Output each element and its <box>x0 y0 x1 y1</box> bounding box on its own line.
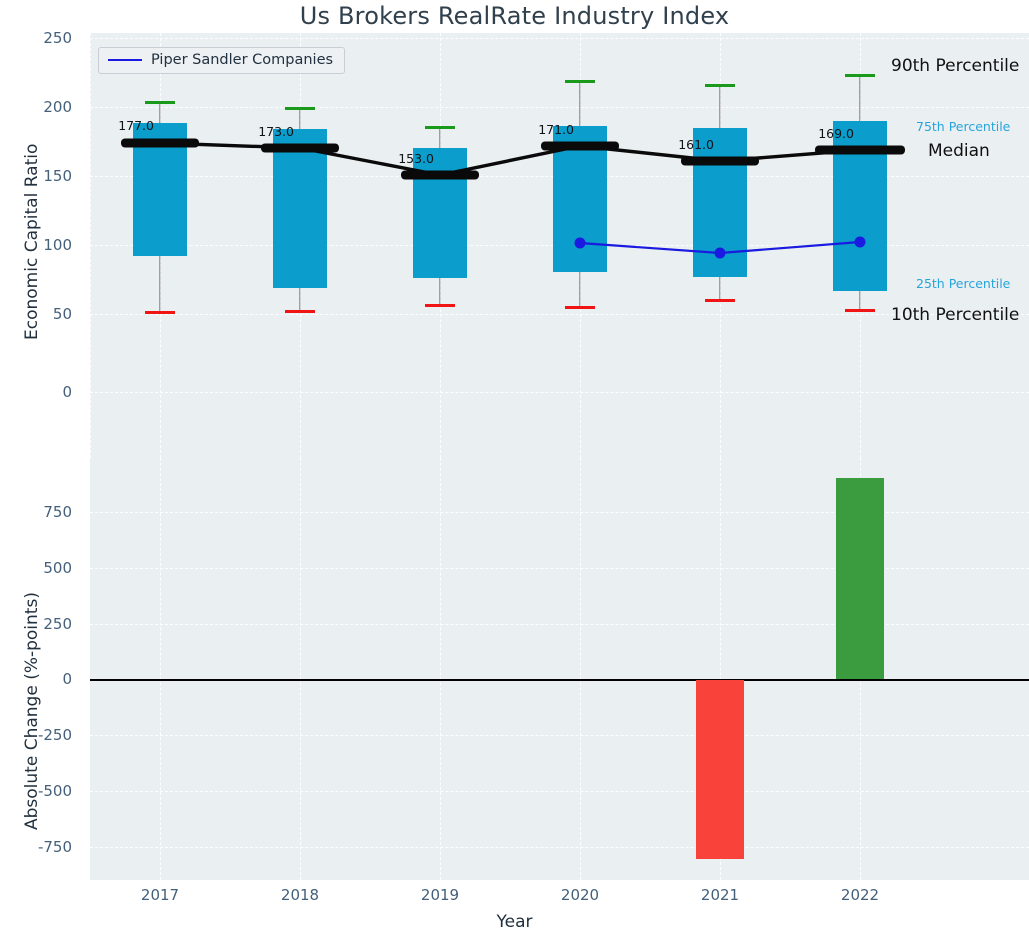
gridline-bottom-500 <box>90 568 1029 569</box>
p90-cap-2018 <box>285 107 315 110</box>
box-2018 <box>273 129 327 288</box>
gridline-top-200 <box>90 107 1029 108</box>
median-value-label-2018: 173.0 <box>258 124 294 139</box>
gridline-bx-2019 <box>440 458 441 880</box>
gridline-bx-2018 <box>300 458 301 880</box>
p90-cap-2017 <box>145 101 175 104</box>
annotation-90th-percentile: 90th Percentile <box>891 56 1019 76</box>
ytick-bottom-750: 750 <box>0 503 72 521</box>
p90-cap-2021 <box>705 84 735 87</box>
p90-cap-2019 <box>425 126 455 129</box>
median-value-label-2019: 153.0 <box>398 151 434 166</box>
gridline-top-50 <box>90 314 1029 315</box>
annotation-75th-percentile: 75th Percentile <box>916 119 1010 134</box>
xtick-2020: 2020 <box>540 886 620 904</box>
p90-cap-2022 <box>845 74 875 77</box>
legend[interactable]: Piper Sandler Companies <box>98 47 345 74</box>
p10-cap-2022 <box>845 309 875 312</box>
median-marker-2018 <box>261 144 339 153</box>
p10-cap-2018 <box>285 310 315 313</box>
median-value-label-2021: 161.0 <box>678 137 714 152</box>
gridline-bx-2017 <box>160 458 161 880</box>
ytick-bottom-500: 500 <box>0 559 72 577</box>
gridline-bottom-m750 <box>90 847 1029 848</box>
median-marker-2022 <box>815 146 905 155</box>
page-title: Us Brokers RealRate Industry Index <box>0 2 1029 30</box>
gridline-bottom-750 <box>90 512 1029 513</box>
top-axis-label: Economic Capital Ratio <box>22 144 42 340</box>
median-marker-2021 <box>681 157 759 166</box>
xtick-2021: 2021 <box>680 886 760 904</box>
p10-cap-2017 <box>145 311 175 314</box>
gridline-bx-2020 <box>580 458 581 880</box>
median-marker-2020 <box>541 142 619 151</box>
median-value-label-2022: 169.0 <box>818 126 854 141</box>
gridline-bottom-250 <box>90 624 1029 625</box>
change-bar-2021 <box>696 680 744 859</box>
zero-baseline <box>90 679 1029 681</box>
legend-label-piper-sandler: Piper Sandler Companies <box>151 52 333 68</box>
gridline-top-0 <box>90 392 1029 393</box>
boxplot-axes: 177.0 173.0 153.0 171.0 161.0 <box>90 33 1029 458</box>
xtick-2019: 2019 <box>400 886 480 904</box>
median-marker-2017 <box>121 139 199 148</box>
change-bar-axes <box>90 458 1029 880</box>
x-axis-label: Year <box>0 912 1029 932</box>
annotation-25th-percentile: 25th Percentile <box>916 276 1010 291</box>
ytick-top-250: 250 <box>0 29 72 47</box>
median-value-label-2017: 177.0 <box>118 118 154 133</box>
p10-cap-2021 <box>705 299 735 302</box>
gridline-top-250 <box>90 38 1029 39</box>
median-value-label-2020: 171.0 <box>538 122 574 137</box>
gridline-bottom-m250 <box>90 735 1029 736</box>
legend-swatch-piper-sandler <box>108 59 142 61</box>
ytick-top-200: 200 <box>0 98 72 116</box>
change-bar-2022 <box>836 478 884 679</box>
p10-cap-2019 <box>425 304 455 307</box>
gridline-bottom-m500 <box>90 791 1029 792</box>
bottom-axis-label: Absolute Change (%-points) <box>22 592 42 830</box>
annotation-10th-percentile: 10th Percentile <box>891 305 1019 325</box>
xtick-2022: 2022 <box>820 886 900 904</box>
ytick-bottom-m750: -750 <box>0 838 72 856</box>
xtick-2018: 2018 <box>260 886 340 904</box>
ytick-top-0: 0 <box>0 383 72 401</box>
p10-cap-2020 <box>565 306 595 309</box>
figure-container: Us Brokers RealRate Industry Index 177.0… <box>0 0 1029 942</box>
p90-cap-2020 <box>565 80 595 83</box>
xtick-2017: 2017 <box>120 886 200 904</box>
box-2019 <box>413 148 467 278</box>
median-marker-2019 <box>401 171 479 180</box>
annotation-median: Median <box>928 141 990 161</box>
